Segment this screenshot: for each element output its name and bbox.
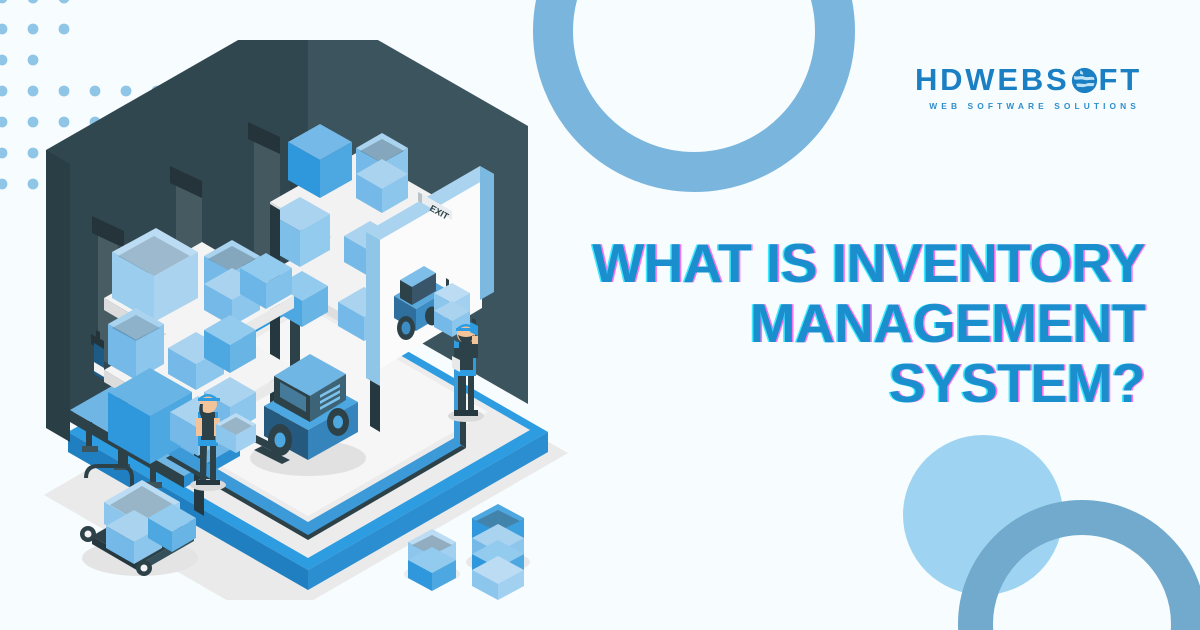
isometric-warehouse-scene: EXIT	[8, 40, 588, 600]
banner-canvas: HDWEBS FT WEB SOFTWARE SOLUTIONS WHAT IS…	[0, 0, 1200, 630]
headline-line-2: MANAGEMENT	[545, 294, 1145, 354]
headline-line-3: SYSTEM?	[545, 354, 1145, 414]
globe-icon	[1071, 67, 1098, 94]
box-stack-tall	[466, 504, 530, 600]
bottom-right-circle	[903, 435, 1063, 595]
page-title: WHAT IS INVENTORY MANAGEMENT SYSTEM?	[545, 234, 1145, 414]
logo-tagline: WEB SOFTWARE SOLUTIONS	[915, 102, 1140, 110]
logo-text-after: FT	[1099, 64, 1142, 95]
logo-wordmark: HDWEBS FT	[915, 64, 1142, 95]
logo-text-before: HDWEBS	[915, 64, 1070, 95]
hdwebsoft-logo[interactable]: HDWEBS FT WEB SOFTWARE SOLUTIONS	[915, 64, 1142, 110]
bottom-right-ring	[958, 500, 1200, 630]
headline-line-1: WHAT IS INVENTORY	[545, 234, 1145, 294]
